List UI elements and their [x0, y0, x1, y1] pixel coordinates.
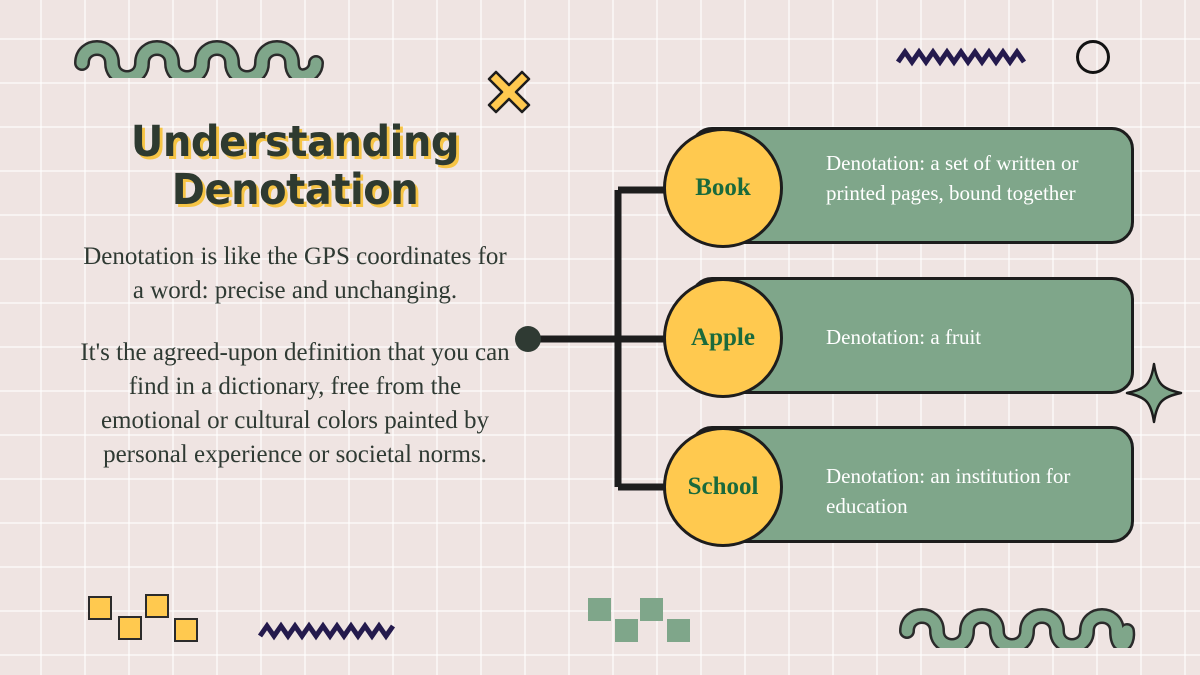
examples-group: Denotation: a set of written or printed …: [663, 0, 1123, 675]
example-definition: Denotation: a set of written or printed …: [826, 148, 1096, 208]
example-definition: Denotation: an institution for education: [826, 461, 1096, 521]
example-definition: Denotation: a fruit: [826, 322, 1096, 352]
example-term-bubble[interactable]: Apple: [663, 278, 783, 398]
example-term-label: School: [688, 473, 759, 501]
example-term-bubble[interactable]: Book: [663, 128, 783, 248]
slide-canvas: Understanding Denotation Denotation is l…: [0, 0, 1200, 675]
example-term-label: Book: [695, 174, 751, 202]
connector-origin-dot: [515, 326, 541, 352]
example-term-label: Apple: [691, 324, 755, 352]
example-term-bubble[interactable]: School: [663, 427, 783, 547]
